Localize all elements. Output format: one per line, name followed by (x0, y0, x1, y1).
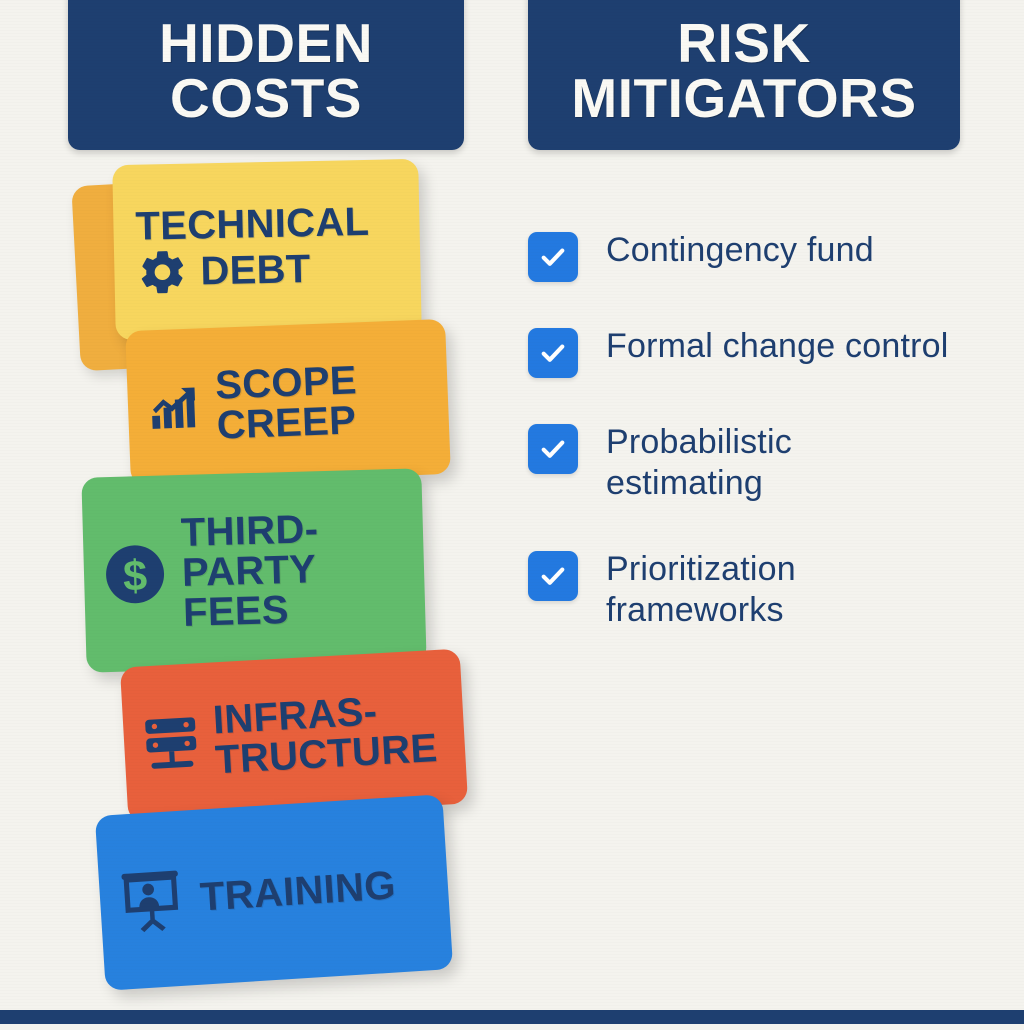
checkbox-checked-icon[interactable] (528, 424, 578, 474)
header-risk-mitigators-line2: MITIGATORS (571, 71, 916, 126)
dollar-coin-icon: $ (97, 536, 173, 612)
cost-card-third-party-fees-line1: THIRD- (180, 509, 318, 553)
checklist-item-label: Contingency fund (606, 230, 874, 271)
svg-text:$: $ (122, 552, 147, 601)
cost-card-third-party-fees-line2: PARTY (181, 549, 319, 593)
cost-card-third-party-fees[interactable]: $ THIRD- PARTY FEES (81, 468, 426, 672)
cost-card-training-label: TRAINING (187, 865, 397, 918)
presentation-board-icon (112, 862, 190, 939)
checklist-item[interactable]: Probabilistic estimating (528, 422, 968, 505)
cost-card-scope-creep-line2: CREEP (216, 400, 359, 445)
cost-card-technical-debt[interactable]: TECHNICAL DEBT (112, 159, 422, 340)
cost-card-technical-debt-line2: DEBT (200, 249, 311, 291)
gear-icon-glyph (136, 245, 189, 298)
checklist-item-label: Probabilistic estimating (606, 422, 956, 505)
server-rack-icon (134, 706, 208, 778)
hidden-costs-card-stack: TECHNICAL DEBT (0, 150, 500, 1030)
checklist-item[interactable]: Prioritization frameworks (528, 549, 968, 632)
header-risk-mitigators: RISK MITIGATORS (528, 0, 960, 150)
checkbox-checked-icon[interactable] (528, 232, 578, 282)
growth-chart-icon (141, 375, 209, 439)
checklist-item-label: Prioritization frameworks (606, 549, 956, 632)
cost-card-infrastructure-label: INFRAS- TRUCTURE (204, 688, 438, 781)
cost-card-third-party-fees-line3: FEES (183, 589, 321, 633)
footer-bar (0, 1010, 1024, 1024)
header-hidden-costs-line1: HIDDEN (159, 16, 373, 71)
cost-card-scope-creep[interactable]: SCOPE CREEP (125, 319, 451, 486)
header-risk-mitigators-line1: RISK (571, 16, 916, 71)
checklist-item-label: Formal change control (606, 326, 948, 367)
risk-mitigators-checklist: Contingency fund Formal change control P… (528, 230, 968, 676)
header-hidden-costs-line2: COSTS (159, 71, 373, 126)
cost-card-technical-debt-label: TECHNICAL DEBT (129, 201, 371, 298)
cost-card-scope-creep-label: SCOPE CREEP (207, 360, 360, 446)
checkbox-checked-icon[interactable] (528, 328, 578, 378)
header-hidden-costs: HIDDEN COSTS (68, 0, 464, 150)
checklist-item[interactable]: Contingency fund (528, 230, 968, 282)
checklist-item[interactable]: Formal change control (528, 326, 968, 378)
cost-card-training[interactable]: TRAINING (95, 794, 453, 991)
infographic-canvas: HIDDEN COSTS RISK MITIGATORS TECHNICAL (0, 0, 1024, 1024)
cost-card-third-party-fees-label: THIRD- PARTY FEES (170, 509, 321, 633)
checkbox-checked-icon[interactable] (528, 551, 578, 601)
cost-card-technical-debt-line1: TECHNICAL (135, 201, 370, 246)
